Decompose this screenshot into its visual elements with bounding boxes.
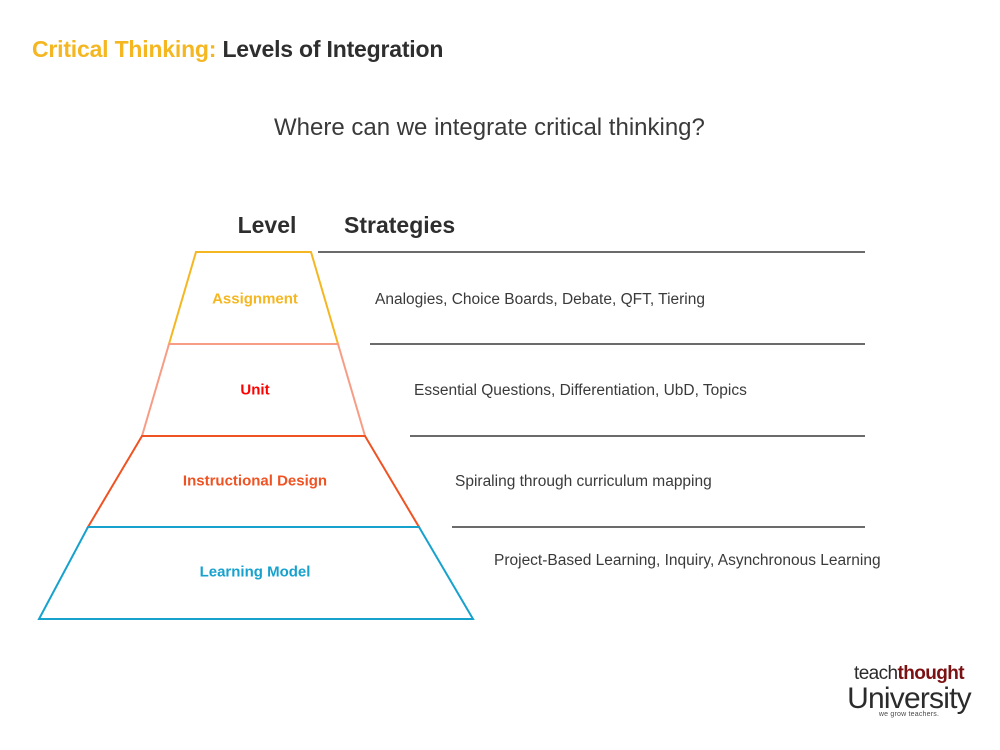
level-label-instructional-design: Instructional Design	[183, 473, 327, 490]
level-label-learning-model: Learning Model	[200, 564, 311, 581]
strategy-instructional-design: Spiraling through curriculum mapping	[455, 471, 865, 493]
logo-word-teach: teach	[854, 663, 897, 684]
strategy-assignment: Analogies, Choice Boards, Debate, QFT, T…	[375, 289, 855, 311]
pyramid-diagram	[0, 0, 1000, 750]
column-header-level: Level	[232, 212, 302, 239]
slide-subtitle: Where can we integrate critical thinking…	[274, 114, 705, 142]
page-title-accent: Critical Thinking:	[32, 36, 216, 62]
slide-canvas: Critical Thinking: Levels of Integration…	[0, 0, 1000, 750]
teachthought-university-logo: teachthought University we grow teachers…	[836, 664, 982, 718]
strategy-unit: Essential Questions, Differentiation, Ub…	[414, 380, 864, 402]
level-label-unit: Unit	[240, 382, 269, 399]
page-title: Critical Thinking: Levels of Integration	[32, 36, 443, 63]
logo-wordmark-line-one: teachthought	[836, 664, 982, 683]
logo-wordmark-university: University	[836, 684, 982, 714]
level-label-assignment: Assignment	[212, 291, 298, 308]
page-title-main: Levels of Integration	[222, 36, 443, 62]
logo-word-thought: thought	[898, 663, 964, 684]
strategy-learning-model: Project-Based Learning, Inquiry, Asynchr…	[494, 550, 884, 572]
column-header-strategies: Strategies	[344, 212, 455, 239]
pyramid-svg	[0, 0, 1000, 750]
